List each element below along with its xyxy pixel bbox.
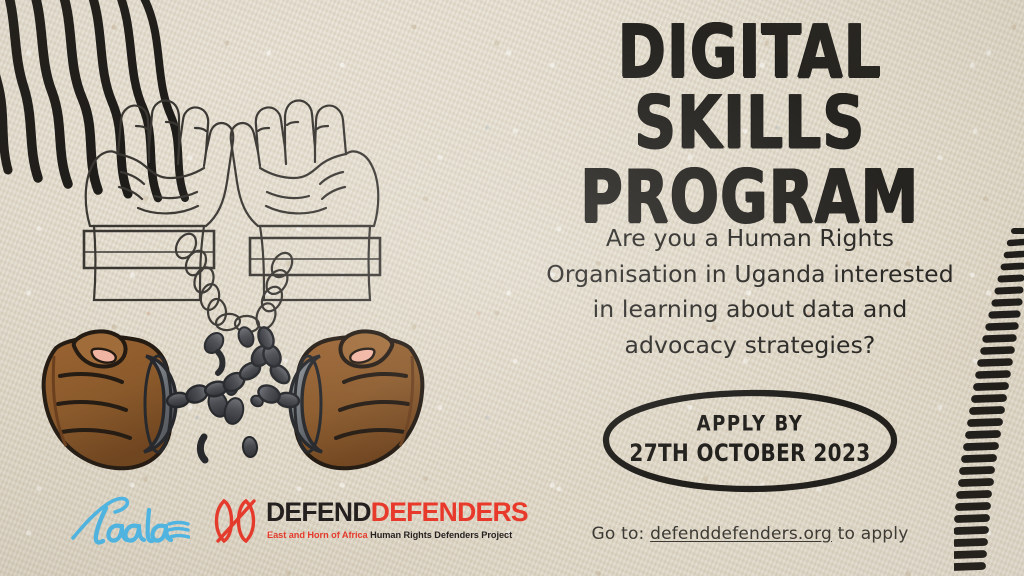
intact-chain-outline bbox=[172, 230, 296, 333]
apply-by-label: APPLY BY bbox=[697, 413, 804, 437]
apply-deadline: 27TH OCTOBER 2023 bbox=[629, 440, 870, 466]
dd-tagline-project: Human Rights Defenders Project bbox=[370, 530, 512, 540]
poster-blurb: Are you a Human Rights Organisation in U… bbox=[515, 221, 985, 364]
apply-by-text: APPLY BY 27TH OCTOBER 2023 bbox=[600, 376, 900, 503]
defenddefenders-tagline: East and Horn of Africa Human Rights Def… bbox=[267, 531, 512, 540]
title-line-2: PROGRAM bbox=[502, 163, 997, 233]
dd-tagline-region: East and Horn of Africa bbox=[267, 530, 368, 540]
outlined-fist-left bbox=[86, 101, 234, 226]
dd-word-defenders: DEFENDERS bbox=[371, 497, 528, 527]
page-title: DIGITAL SKILLS PROGRAM bbox=[502, 18, 997, 234]
blurb-line-2: Organisation in Uganda interested bbox=[546, 260, 954, 288]
defenddefenders-logo[interactable]: DEFENDDEFENDERS East and Horn of Africa … bbox=[210, 493, 510, 551]
brown-fist-right bbox=[256, 325, 423, 468]
goto-suffix: to apply bbox=[838, 524, 909, 544]
outlined-fist-right bbox=[231, 101, 379, 226]
poster-canvas: DIGITAL SKILLS PROGRAM Are you a Human R… bbox=[0, 0, 1024, 576]
goto-prefix: Go to: bbox=[592, 524, 645, 544]
blurb-line-3: in learning about data and bbox=[593, 295, 908, 323]
poster-content-column: DIGITAL SKILLS PROGRAM Are you a Human R… bbox=[492, 18, 1008, 562]
defenddefenders-mark-icon bbox=[210, 495, 262, 547]
title-line-1: DIGITAL SKILLS bbox=[502, 18, 997, 159]
broken-chains-fists-illustration bbox=[18, 56, 448, 476]
blurb-line-4: advocacy strategies? bbox=[624, 331, 875, 359]
right-handcuff-outline bbox=[250, 238, 380, 275]
dd-word-defend: DEFEND bbox=[266, 497, 371, 527]
apply-by-callout: APPLY BY 27TH OCTOBER 2023 bbox=[600, 386, 900, 494]
taala-logo[interactable] bbox=[65, 494, 190, 549]
defenddefenders-url-link[interactable]: defenddefenders.org bbox=[650, 524, 832, 544]
logo-row: DEFENDDEFENDERS East and Horn of Africa … bbox=[60, 492, 460, 554]
apply-instruction: Go to: defenddefenders.org to apply bbox=[592, 524, 909, 544]
defenddefenders-wordmark: DEFENDDEFENDERS bbox=[266, 499, 528, 526]
